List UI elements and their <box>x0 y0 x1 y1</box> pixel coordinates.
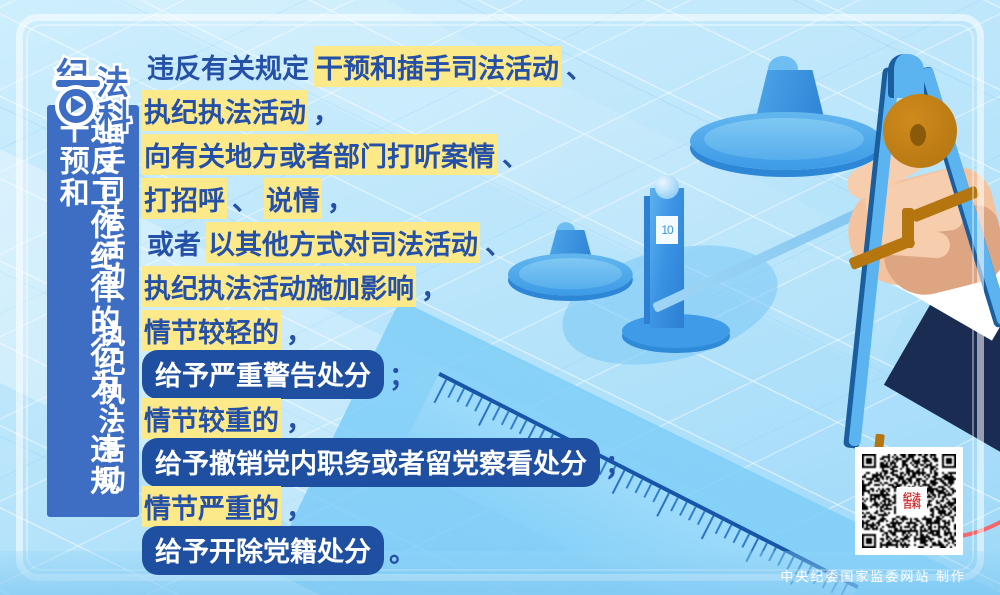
plain-text: 或者 <box>142 222 206 263</box>
policy-text-line: 给予开除党籍处分。 <box>142 528 612 572</box>
highlighted-phrase: 干预和插手司法活动 <box>314 46 561 87</box>
policy-text-line: 违反有关规定干预和插手司法活动、 <box>142 44 612 88</box>
logo-bai-bar <box>56 80 100 87</box>
plain-text: ， <box>281 398 318 439</box>
policy-text-line: 情节较重的， <box>142 396 612 440</box>
compass-head <box>888 54 924 98</box>
qr-center-logo: 纪法百科 <box>897 487 927 515</box>
policy-text-body: 违反有关规定干预和插手司法活动、执纪执法活动，向有关地方或者部门打听案情、打招呼… <box>142 44 612 572</box>
plain-text: ； <box>384 354 421 395</box>
highlighted-phrase: 情节较重的 <box>142 398 281 439</box>
plain-text: 。 <box>384 530 421 571</box>
highlighted-phrase: 打招呼 <box>142 178 227 219</box>
policy-text-line: 向有关地方或者部门打听案情、 <box>142 132 612 176</box>
play-icon <box>71 97 84 113</box>
logo-char-ke: 科 <box>98 90 131 138</box>
policy-text-line: 情节严重的， <box>142 484 612 528</box>
plain-text: ， <box>416 266 453 307</box>
plain-text: ； <box>600 442 637 483</box>
scale-dial: 10 <box>656 216 678 244</box>
highlighted-phrase: 执纪执法活动施加影响 <box>142 266 416 307</box>
sanction-badge: 给予撤销党内职务或者留党察看处分 <box>142 438 600 487</box>
policy-text-line: 给予撤销党内职务或者留党察看处分； <box>142 440 612 484</box>
policy-text-line: 打招呼、说情， <box>142 176 612 220</box>
scale-knob <box>655 175 679 199</box>
plain-text: ， <box>281 310 318 351</box>
highlighted-phrase: 以其他方式对司法活动 <box>206 222 480 263</box>
plain-text: 、 <box>497 134 534 175</box>
highlighted-phrase: 情节严重的 <box>142 486 281 527</box>
policy-text-line: 情节较轻的， <box>142 308 612 352</box>
plain-text: ， <box>308 90 345 131</box>
policy-text-line: 执纪执法活动施加影响， <box>142 264 612 308</box>
poster-canvas: 10 <box>0 0 1000 595</box>
scale-dial-value: 10 <box>661 223 672 237</box>
compass-illustration <box>830 48 1000 468</box>
vertical-label-block: 违反工作纪律的行为：违规干预和 插手司法活动、执纪执法活动 <box>47 105 139 517</box>
logo-char-bai-play-mark <box>58 84 98 124</box>
credit-line: 中央纪委国家监委网站 制作 <box>780 566 966 585</box>
sanction-badge: 给予开除党籍处分 <box>142 526 384 575</box>
policy-text-line: 或者以其他方式对司法活动、 <box>142 220 612 264</box>
plain-text: 、 <box>561 46 598 87</box>
highlighted-phrase: 执纪执法活动 <box>142 90 308 131</box>
highlighted-phrase: 向有关地方或者部门打听案情 <box>142 134 497 175</box>
sanction-badge: 给予严重警告处分 <box>142 350 384 399</box>
policy-text-line: 给予严重警告处分； <box>142 352 612 396</box>
plain-text: 、 <box>480 222 517 263</box>
policy-text-line: 执纪执法活动， <box>142 88 612 132</box>
brand-logo[interactable]: 纪 法 科 <box>54 48 144 126</box>
plain-text: 、 <box>227 178 264 219</box>
compass-hinge-hole <box>910 124 926 146</box>
highlighted-phrase: 情节较轻的 <box>142 310 281 351</box>
vertical-label-column-2: 插手司法活动、执纪执法活动 <box>95 117 123 494</box>
qr-code[interactable]: 纪法百科 <box>855 447 963 555</box>
plain-text: 违反有关规定 <box>142 46 314 87</box>
highlighted-phrase: 说情 <box>264 178 322 219</box>
plain-text: ， <box>322 178 359 219</box>
qr-center-logo-text: 纪法百科 <box>903 493 921 509</box>
plain-text: ， <box>281 486 318 527</box>
